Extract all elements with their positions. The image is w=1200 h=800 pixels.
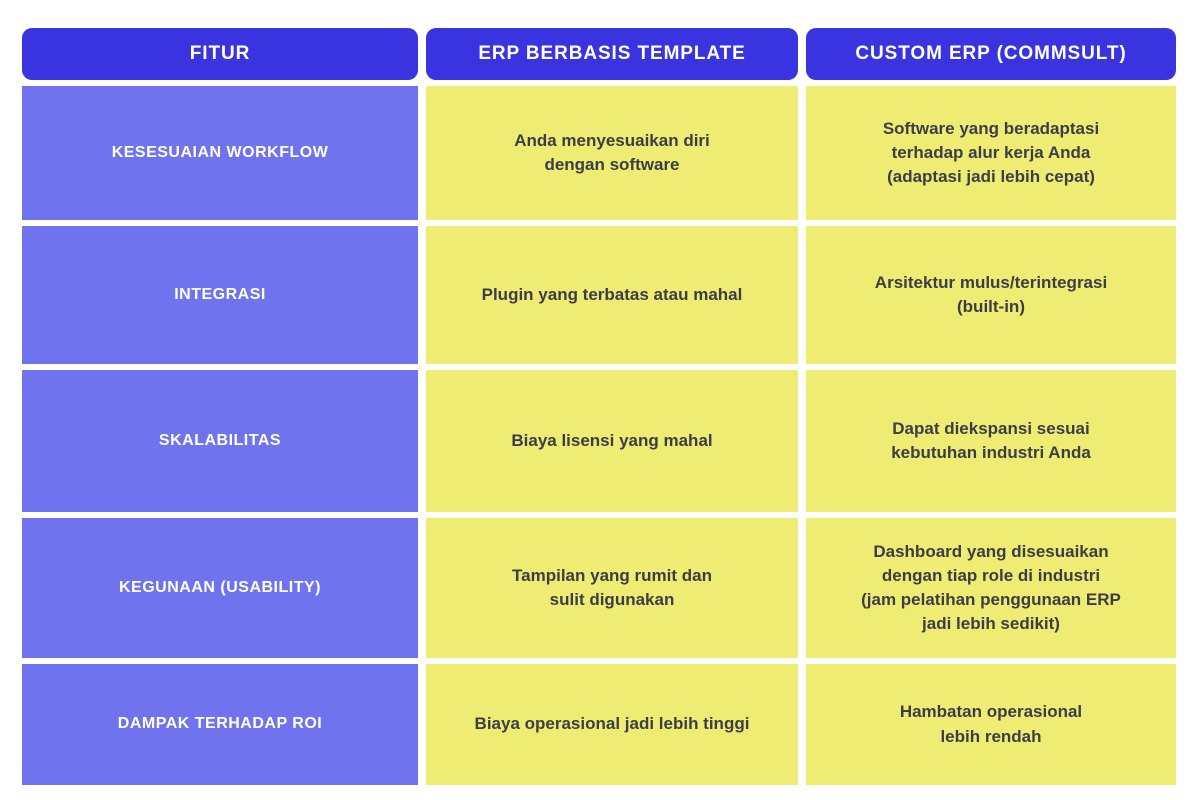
table-header-row: FITUR ERP BERBASIS TEMPLATE CUSTOM ERP (… [22,28,1176,80]
feature-label: DAMPAK TERHADAP ROI [118,714,322,735]
template-value: Plugin yang terbatas atau mahal [482,283,743,307]
feature-cell-integrasi: INTEGRASI [22,226,418,364]
template-value: Tampilan yang rumit dan sulit digunakan [512,564,712,612]
table-row: SKALABILITAS Biaya lisensi yang mahal Da… [22,370,1176,512]
column-header-fitur: FITUR [22,28,418,80]
feature-cell-kegunaan-usability: KEGUNAAN (USABILITY) [22,518,418,658]
custom-cell-integrasi: Arsitektur mulus/terintegrasi (built-in) [806,226,1176,364]
template-cell-dampak-terhadap-roi: Biaya operasional jadi lebih tinggi [426,664,798,785]
column-header-custom-erp-commsult: CUSTOM ERP (COMMSULT) [806,28,1176,80]
column-header-fitur-label: FITUR [190,43,250,65]
custom-value: Hambatan operasional lebih rendah [900,700,1082,748]
template-value: Biaya operasional jadi lebih tinggi [475,712,750,736]
custom-value: Software yang beradaptasi terhadap alur … [883,117,1099,189]
feature-cell-skalabilitas: SKALABILITAS [22,370,418,512]
custom-cell-kesesuaian-workflow: Software yang beradaptasi terhadap alur … [806,86,1176,220]
feature-cell-kesesuaian-workflow: KESESUAIAN WORKFLOW [22,86,418,220]
column-header-erp-berbasis-template-label: ERP BERBASIS TEMPLATE [478,43,745,65]
template-cell-skalabilitas: Biaya lisensi yang mahal [426,370,798,512]
template-value: Biaya lisensi yang mahal [511,429,712,453]
feature-label: KESESUAIAN WORKFLOW [112,143,329,164]
feature-label: KEGUNAAN (USABILITY) [119,578,321,599]
feature-label: SKALABILITAS [159,431,281,452]
custom-cell-kegunaan-usability: Dashboard yang disesuaikan dengan tiap r… [806,518,1176,658]
table-row: DAMPAK TERHADAP ROI Biaya operasional ja… [22,664,1176,785]
custom-value: Arsitektur mulus/terintegrasi (built-in) [875,271,1107,319]
custom-value: Dashboard yang disesuaikan dengan tiap r… [861,540,1121,637]
custom-cell-skalabilitas: Dapat diekspansi sesuai kebutuhan indust… [806,370,1176,512]
feature-label: INTEGRASI [174,285,266,306]
template-value: Anda menyesuaikan diri dengan software [514,129,710,177]
column-header-custom-erp-commsult-label: CUSTOM ERP (COMMSULT) [855,43,1126,65]
column-header-erp-berbasis-template: ERP BERBASIS TEMPLATE [426,28,798,80]
template-cell-kesesuaian-workflow: Anda menyesuaikan diri dengan software [426,86,798,220]
custom-cell-dampak-terhadap-roi: Hambatan operasional lebih rendah [806,664,1176,785]
table-row: KEGUNAAN (USABILITY) Tampilan yang rumit… [22,518,1176,658]
custom-value: Dapat diekspansi sesuai kebutuhan indust… [891,417,1091,465]
template-cell-integrasi: Plugin yang terbatas atau mahal [426,226,798,364]
comparison-table: FITUR ERP BERBASIS TEMPLATE CUSTOM ERP (… [22,28,1176,785]
table-row: KESESUAIAN WORKFLOW Anda menyesuaikan di… [22,86,1176,220]
table-row: INTEGRASI Plugin yang terbatas atau maha… [22,226,1176,364]
feature-cell-dampak-terhadap-roi: DAMPAK TERHADAP ROI [22,664,418,785]
template-cell-kegunaan-usability: Tampilan yang rumit dan sulit digunakan [426,518,798,658]
